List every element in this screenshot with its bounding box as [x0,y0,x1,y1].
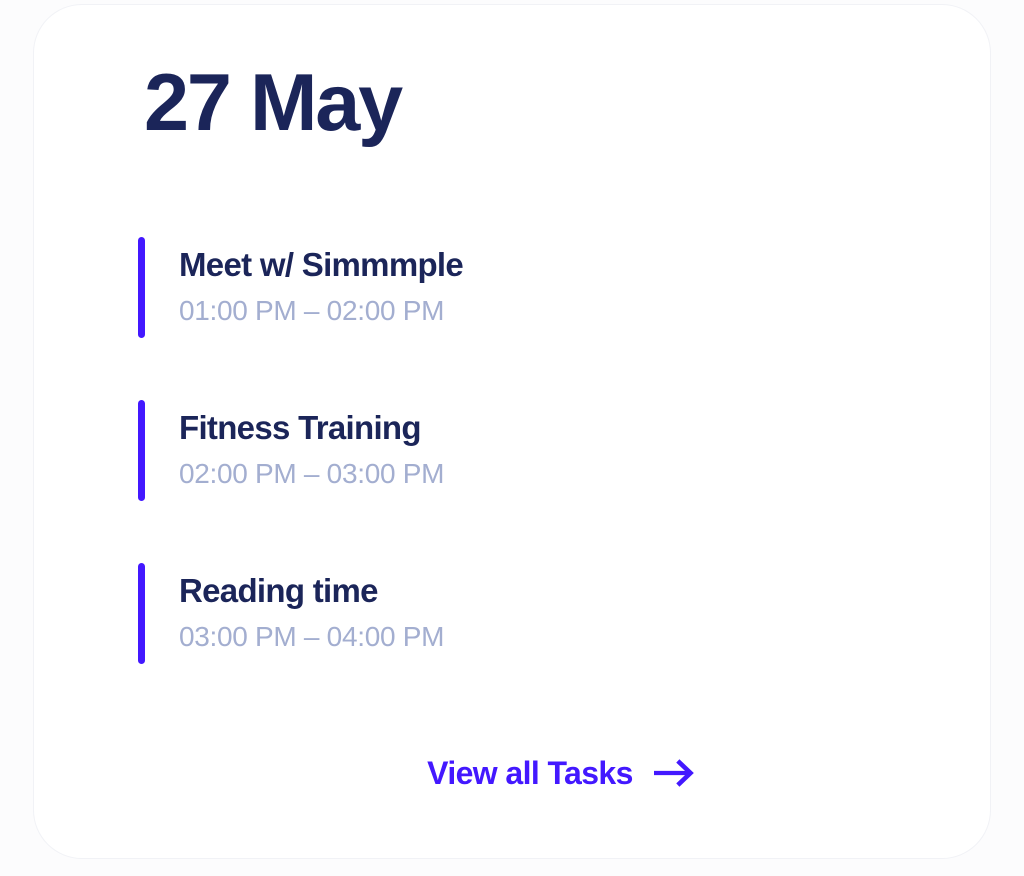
card-footer: View all Tasks [34,757,990,789]
arrow-right-icon [652,757,697,789]
task-title: Reading time [179,572,444,611]
task-title: Meet w/ Simmmple [179,246,463,285]
task-list: Meet w/ Simmmple 01:00 PM – 02:00 PM Fit… [138,237,898,726]
task-list-item[interactable]: Reading time 03:00 PM – 04:00 PM [138,563,898,664]
view-all-tasks-button[interactable]: View all Tasks [427,757,697,789]
screen-root: 27 May Meet w/ Simmmple 01:00 PM – 02:00… [0,0,1024,876]
task-title: Fitness Training [179,409,444,448]
task-accent-bar [138,400,145,501]
task-time-range: 01:00 PM – 02:00 PM [179,294,463,327]
task-content: Fitness Training 02:00 PM – 03:00 PM [179,400,444,501]
task-time-range: 02:00 PM – 03:00 PM [179,457,444,490]
tasks-card: 27 May Meet w/ Simmmple 01:00 PM – 02:00… [34,5,990,858]
task-time-range: 03:00 PM – 04:00 PM [179,620,444,653]
task-accent-bar [138,237,145,338]
page-title: 27 May [144,63,401,144]
view-all-tasks-label: View all Tasks [427,757,633,789]
task-content: Meet w/ Simmmple 01:00 PM – 02:00 PM [179,237,463,338]
task-list-item[interactable]: Meet w/ Simmmple 01:00 PM – 02:00 PM [138,237,898,338]
task-content: Reading time 03:00 PM – 04:00 PM [179,563,444,664]
task-list-item[interactable]: Fitness Training 02:00 PM – 03:00 PM [138,400,898,501]
task-accent-bar [138,563,145,664]
